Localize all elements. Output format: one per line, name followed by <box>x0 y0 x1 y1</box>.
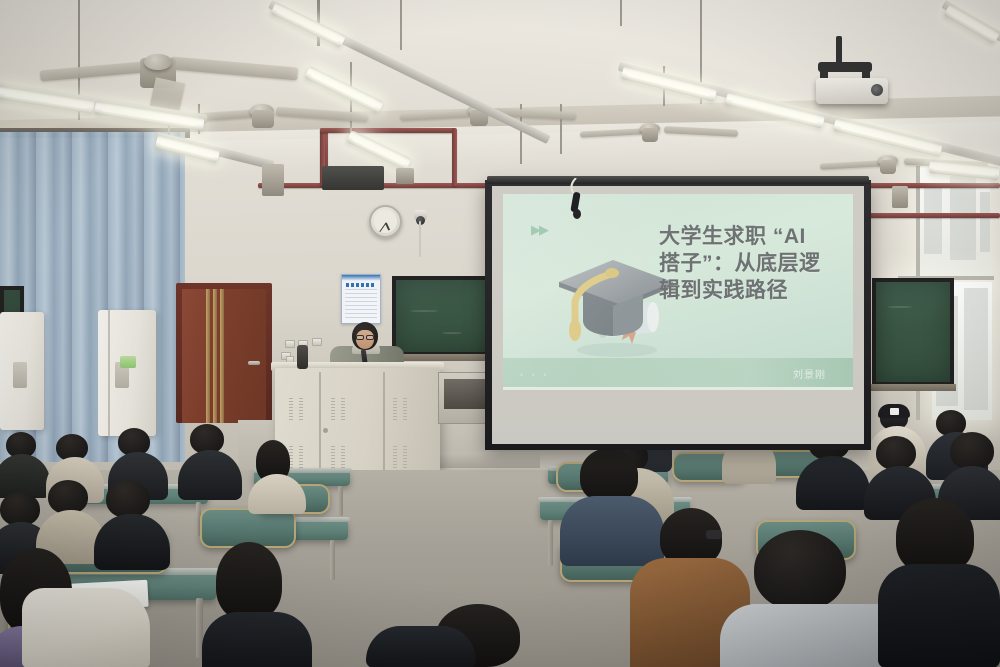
chalk-tray-right <box>870 384 956 391</box>
cap-logo-icon <box>890 408 899 415</box>
desk-leg <box>338 486 343 516</box>
wall-notice-board <box>341 274 381 324</box>
hanger-rod <box>620 0 622 26</box>
stage-step-upper <box>430 452 540 468</box>
podium-lock[interactable] <box>323 428 328 433</box>
projection-screen-case <box>487 176 869 184</box>
slide-presenter-name: 刘景刚 <box>793 366 986 381</box>
wall-socket[interactable] <box>285 340 295 348</box>
slide-title: 大学生求职 “AI 搭子”：从底层逻 辑到实践路径 <box>659 224 839 305</box>
slide-footer-underline <box>503 387 853 390</box>
wall-clock <box>369 205 402 238</box>
classroom-door[interactable] <box>182 289 266 423</box>
desk-leg <box>330 540 335 580</box>
presenter-glasses <box>356 335 364 340</box>
camera-cable <box>419 221 421 257</box>
podium-thermos <box>297 345 308 369</box>
ceiling-fan <box>180 96 370 140</box>
wall-speaker <box>396 168 414 184</box>
slide-title-line-1: 大学生求职 “AI <box>659 224 839 251</box>
air-conditioner-left <box>0 312 44 430</box>
desk-leg <box>548 520 553 566</box>
door-trim-strip <box>206 289 210 423</box>
slide-title-line-2: 搭子”：从底层逻 <box>659 251 839 278</box>
door-trim-strip <box>220 289 224 423</box>
wall-socket[interactable] <box>312 338 322 346</box>
slide-title-line-3: 辑到实践路径 <box>659 278 839 305</box>
clock-minute-hand <box>379 222 386 232</box>
clock-face <box>374 210 397 233</box>
air-conditioner-center <box>98 310 156 436</box>
hanger-rod <box>400 0 402 50</box>
hair-clip-icon <box>706 530 722 539</box>
projector-lens <box>871 84 883 96</box>
ceiling-fan <box>580 118 740 154</box>
wall-speaker <box>262 164 284 196</box>
notice-header-strip <box>346 283 376 287</box>
classroom-photo-scene: ▶▶ <box>0 0 1000 667</box>
slide-footer-dots: • • • <box>520 370 549 380</box>
presenter-glasses <box>366 335 374 340</box>
presentation-slide: ▶▶ <box>503 194 853 384</box>
hanging-microphone-clip <box>566 178 592 231</box>
projector <box>816 78 888 104</box>
wall-speaker <box>322 166 384 190</box>
notice-text-lines <box>345 289 377 320</box>
ceiling-fan <box>400 98 580 138</box>
door-trim-strip <box>213 289 217 423</box>
chevron-double-right-icon: ▶▶ <box>531 222 547 238</box>
door-handle[interactable] <box>248 361 260 365</box>
wall-speaker <box>892 186 908 208</box>
